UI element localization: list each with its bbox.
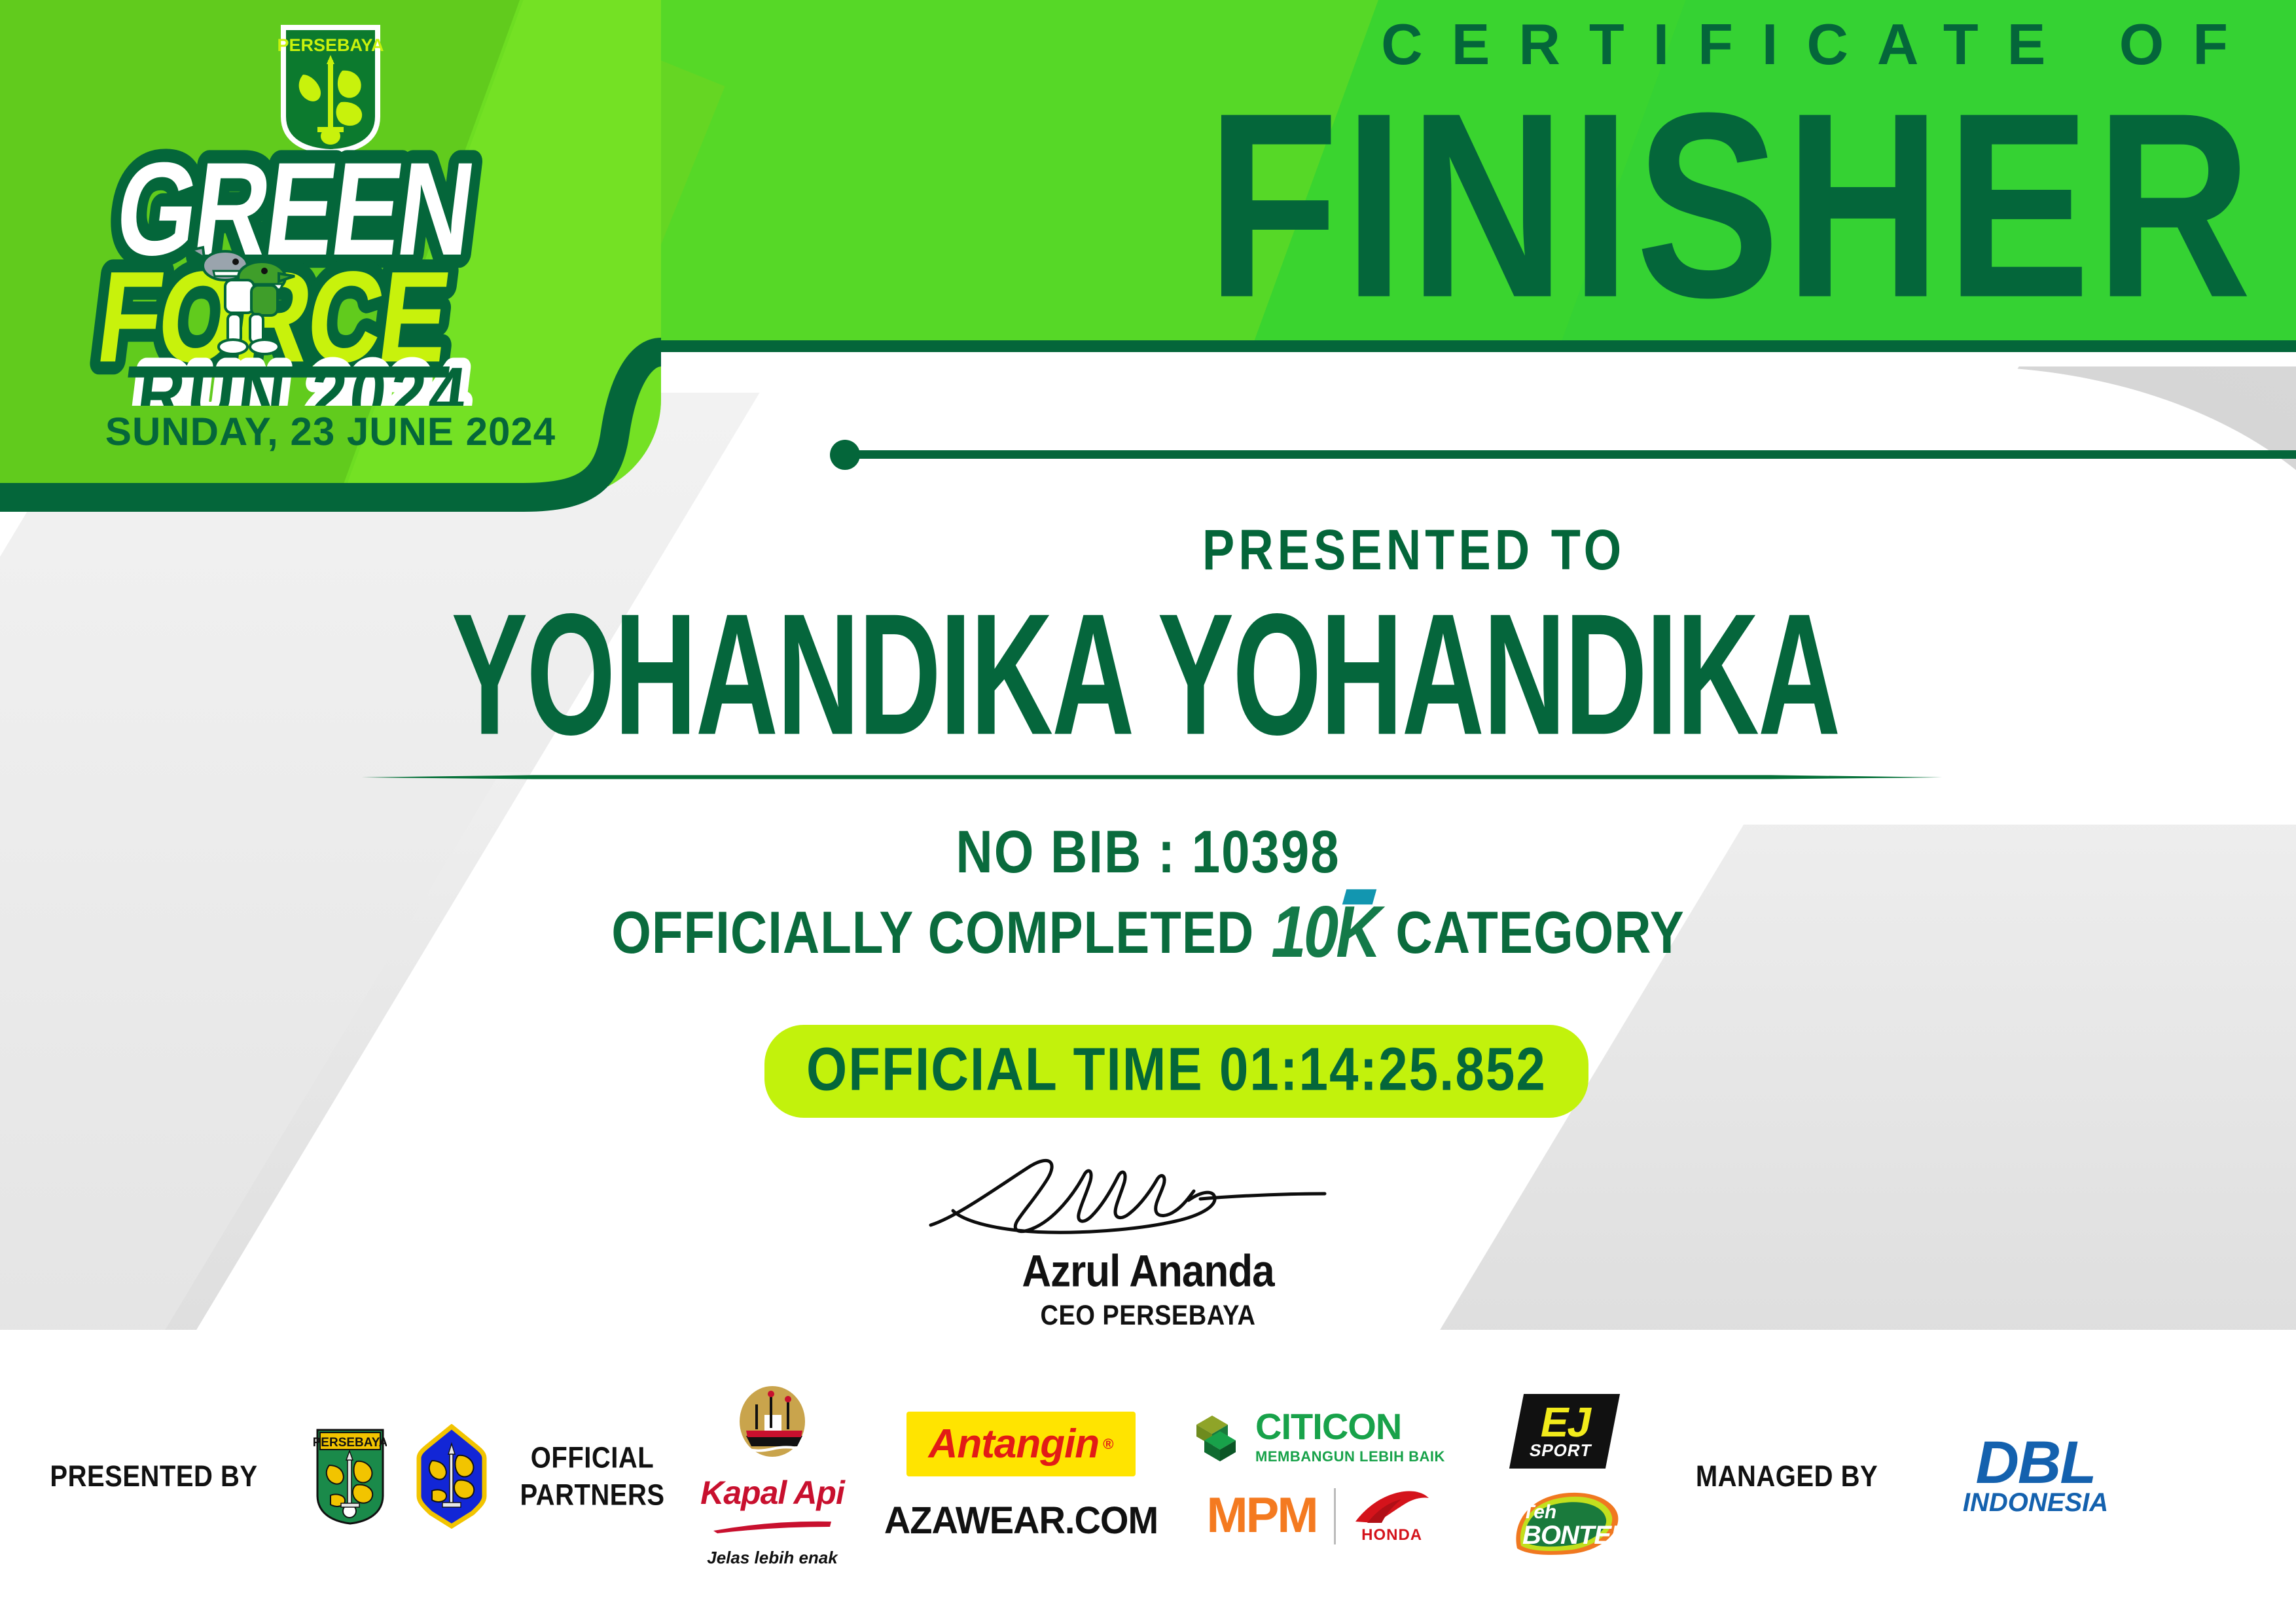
finisher-title: FINISHER xyxy=(751,80,2257,330)
category-10k-logo: 10K xyxy=(1268,891,1381,974)
honda-wing-icon xyxy=(1353,1488,1431,1525)
antangin-wordmark: Antangin xyxy=(929,1421,1100,1467)
svg-text:RUN 2024: RUN 2024 xyxy=(133,352,475,406)
signatory-name: Azrul Ananda xyxy=(821,1246,1475,1297)
decorative-rule xyxy=(857,450,2296,459)
teh-bonteh-wordmark-top: Teh xyxy=(1522,1503,1629,1522)
official-partners-line2: PARTNERS xyxy=(520,1478,664,1511)
kapal-api-wordmark: Kapal Api xyxy=(700,1478,844,1509)
presented-by-slot: PRESENTED BY xyxy=(0,1460,308,1493)
certificate-title-block: CERTIFICATE OF FINISHER xyxy=(751,14,2257,285)
presented-by-label: PRESENTED BY xyxy=(50,1458,257,1495)
svg-text:PERSEBAYA: PERSEBAYA xyxy=(314,1436,387,1450)
sponsor-citicon: CITICON MEMBANGUN LEBIH BAIK xyxy=(1193,1408,1445,1465)
official-time-badge: OFFICIAL TIME 01:14:25.852 xyxy=(764,1025,1588,1118)
completed-prefix-label: OFFICIALLY COMPLETED xyxy=(611,898,1254,967)
honda-wordmark: HONDA xyxy=(1353,1526,1431,1544)
official-time-text: OFFICIAL TIME 01:14:25.852 xyxy=(806,1035,1547,1105)
completed-suffix-label: CATEGORY xyxy=(1395,898,1684,967)
event-date: SUNDAY, 23 JUNE 2024 xyxy=(0,409,661,454)
signature-block: Azrul Ananda CEO PERSEBAYA xyxy=(821,1153,1475,1329)
decorative-dot xyxy=(830,440,860,470)
kapal-api-ship-icon xyxy=(729,1385,816,1467)
surabaya-crest-icon xyxy=(416,1424,487,1529)
sponsor-footer: PRESENTED BY PERSEBAYA xyxy=(0,1330,2296,1623)
sponsor-kapal-api: Kapal Api Jelas lebih enak xyxy=(674,1385,870,1569)
sponsor-ej-bonteh: EJ SPORT Teh BONTEH xyxy=(1466,1394,1662,1559)
sponsor-dbl-indonesia: DBL INDONESIA xyxy=(1911,1437,2160,1515)
signature-mark-icon xyxy=(919,1153,1377,1245)
official-partners-line1: OFFICIAL xyxy=(531,1441,654,1474)
sponsor-surabaya-crest xyxy=(393,1424,511,1529)
bib-number-line: NO BIB : 10398 xyxy=(461,817,1835,887)
sponsor-antangin-azawear: Antangin ® AZAWEAR.COM xyxy=(870,1412,1172,1541)
ej-sport-label: SPORT xyxy=(1528,1440,1594,1461)
sponsor-persebaya-crest: PERSEBAYA xyxy=(308,1427,393,1525)
managed-by-label: MANAGED BY xyxy=(1696,1458,1878,1495)
ej-wordmark: EJ xyxy=(1537,1404,1594,1440)
sponsor-antangin: Antangin ® xyxy=(906,1412,1136,1476)
sponsor-ej-sport: EJ SPORT xyxy=(1509,1394,1620,1469)
official-partners-label: OFFICIAL PARTNERS xyxy=(520,1439,664,1514)
sponsor-mpm-honda: MPM HONDA xyxy=(1206,1488,1431,1544)
teh-bonteh-wordmark-bottom: BONTEH xyxy=(1522,1522,1629,1548)
sponsor-citicon-mpm: CITICON MEMBANGUN LEBIH BAIK MPM HONDA xyxy=(1172,1408,1466,1544)
kapal-api-swoosh-icon xyxy=(713,1519,831,1533)
category-line: OFFICIALLY COMPLETED 10K CATEGORY xyxy=(330,897,1966,969)
green-force-run-logo: GREEN GREEN FORCE FORCE RUN 2024 RU xyxy=(38,131,627,406)
dbl-indonesia-label: INDONESIA xyxy=(1963,1489,2108,1516)
dbl-wordmark: DBL xyxy=(1963,1437,2108,1489)
kapal-api-tagline: Jelas lebih enak xyxy=(707,1548,837,1568)
category-10k-accent-bar xyxy=(1342,889,1376,904)
managed-by-slot: MANAGED BY xyxy=(1662,1460,1911,1493)
recipient-name: YOHANDIKA YOHANDIKA xyxy=(161,576,2130,774)
mpm-wordmark: MPM xyxy=(1206,1493,1316,1538)
presented-to-label: PRESENTED TO xyxy=(661,517,2166,582)
persebaya-crest-footer-icon: PERSEBAYA xyxy=(314,1427,387,1525)
citicon-tagline: MEMBANGUN LEBIH BAIK xyxy=(1255,1448,1445,1465)
citicon-wordmark: CITICON xyxy=(1255,1408,1445,1445)
antangin-registered-mark: ® xyxy=(1103,1436,1113,1453)
certificate-canvas: PERSEBAYA GREEN GREEN FORCE FORCE xyxy=(0,0,2296,1623)
citicon-mark-icon xyxy=(1193,1410,1238,1464)
signatory-role: CEO PERSEBAYA xyxy=(821,1300,1475,1332)
recipient-name-underline xyxy=(249,772,2055,781)
svg-text:PERSEBAYA: PERSEBAYA xyxy=(277,35,384,55)
official-partners-slot: OFFICIAL PARTNERS xyxy=(511,1444,674,1509)
sponsor-teh-bonteh: Teh BONTEH xyxy=(1505,1487,1623,1559)
sponsor-azawear-wordmark: AZAWEAR.COM xyxy=(884,1497,1158,1542)
